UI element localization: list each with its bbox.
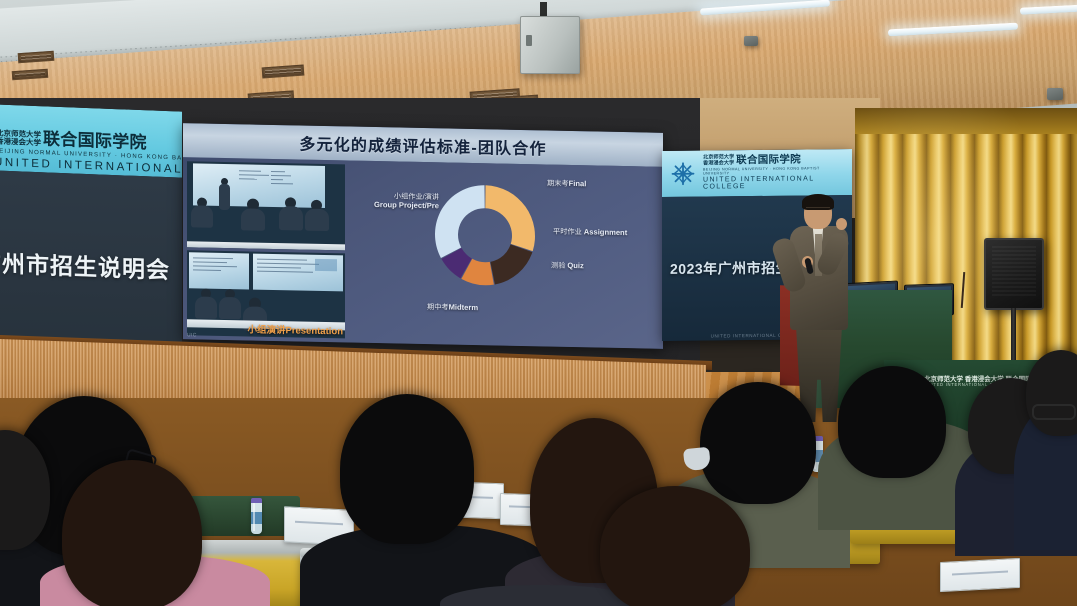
photo-desk [187, 241, 345, 250]
donut-chart: Group Project/Presentation: 30%Final: 17… [429, 178, 541, 292]
presenter [776, 196, 858, 422]
chart-label-cn: 期中考 [427, 302, 449, 311]
chart-label-en: Group Project/Pre [374, 200, 439, 210]
photo-screen-right [253, 253, 343, 291]
right-header-cn-line2: 香港浸会大学 [703, 161, 734, 167]
ceiling-speaker [744, 36, 758, 46]
photo-person [279, 206, 303, 230]
left-screen-header: 北京师范大学 香港浸会大学 联合国际学院 BEIJING NORMAL UNIV… [0, 104, 182, 177]
donut-slice: Midterm: 33% [435, 184, 485, 259]
photo-person [241, 208, 265, 230]
audience-head [700, 382, 816, 504]
slide-title: 多元化的成绩评估标准-团队合作 [299, 131, 546, 160]
photo-screen-left [189, 252, 249, 289]
photo-person [191, 205, 213, 227]
water-bottle[interactable] [251, 498, 262, 534]
chart-label-group-project: 小组作业/演讲 Group Project/Pre [343, 190, 439, 210]
right-screen-header: 北京师范大学 香港浸会大学 联合国际学院 BEIJING NORMAL UNIV… [662, 149, 852, 197]
chart-label-en: Midterm [449, 303, 479, 313]
photo-person [305, 209, 329, 231]
photo-whiteboard [193, 163, 325, 208]
chart-label-quiz: 测验 Quiz [551, 261, 584, 271]
ceiling-speaker [1047, 88, 1063, 100]
slide-photo-column: 小组演讲Presentation [187, 161, 345, 338]
chart-label-cn: 测验 [551, 261, 565, 270]
left-projection-screen: 北京师范大学 香港浸会大学 联合国际学院 BEIJING NORMAL UNIV… [0, 104, 182, 359]
photo-person [195, 296, 217, 318]
main-projection-screen: 多元化的成绩评估标准-团队合作 [183, 123, 663, 349]
chart-label-cn: 期末考 [547, 178, 569, 187]
presenter-raised-hand [836, 218, 847, 230]
right-header-cn-main: 联合国际学院 [736, 155, 801, 167]
photo-presenter [219, 184, 230, 210]
right-header-en-main: UNITED INTERNATIONAL COLLEGE [703, 175, 846, 191]
audience-head [340, 394, 474, 544]
lecture-hall-scene: 北京师范大学 香港浸会大学 联合国际学院 BEIJING NORMAL UNIV… [0, 0, 1077, 606]
audience-glasses [1032, 404, 1076, 420]
slide-watermark: UIC [187, 332, 197, 338]
chart-label-en: Assignment [584, 227, 627, 237]
donut-chart-area: Group Project/Presentation: 30%Final: 17… [351, 161, 663, 349]
photo-person [219, 296, 241, 318]
chart-label-cn: 平时作业 [553, 227, 582, 237]
chart-label-midterm: 期中考Midterm [427, 302, 478, 313]
audience-head [838, 366, 946, 478]
classroom-photo-bottom: 小组演讲Presentation [187, 250, 345, 339]
left-header-cn-line2: 香港浸会大学 [0, 138, 41, 148]
seat-desk-plate [940, 558, 1020, 592]
chart-label-en: Final [569, 179, 587, 188]
donut-slice: Final: 17% [490, 244, 532, 285]
classroom-photo-top [187, 161, 345, 250]
slide-canvas: 小组演讲Presentation Group Project/Presentat… [183, 157, 663, 349]
uic-snowflake-logo-icon [668, 159, 698, 189]
photo-caption: 小组演讲Presentation [247, 321, 343, 337]
audience-head [62, 460, 202, 606]
presenter-glasses [806, 207, 830, 212]
left-screen-body: 广州市招生说明会 [0, 170, 182, 359]
audience-head [600, 486, 750, 606]
pa-speaker [984, 238, 1044, 310]
chart-label-en: Quiz [567, 261, 583, 270]
left-header-cn: 北京师范大学 香港浸会大学 [0, 130, 41, 147]
donut-slice: Group Project/Presentation: 30% [485, 185, 535, 251]
ceiling-equipment-box [520, 16, 580, 74]
chart-label-final: 期末考Final [547, 178, 586, 188]
chart-label-assignment: 平时作业 Assignment [553, 227, 627, 238]
left-screen-title: 广州市招生说明会 [0, 244, 170, 285]
